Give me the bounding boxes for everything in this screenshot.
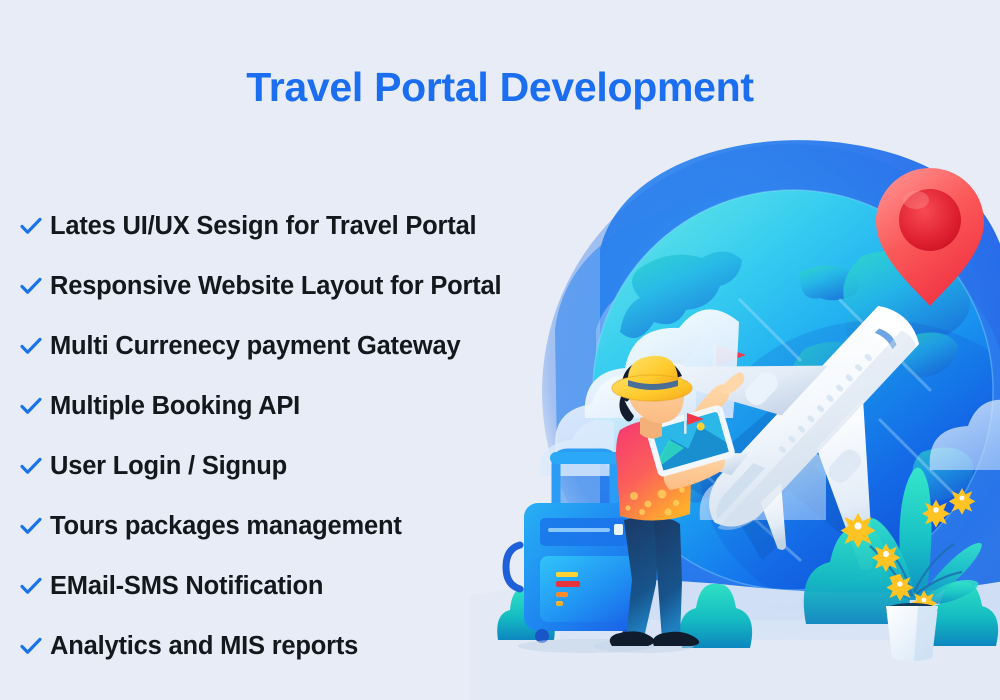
check-icon	[18, 515, 50, 537]
bush-icon-4	[922, 581, 998, 646]
continents	[620, 250, 973, 503]
list-item: Lates UI/UX Sesign for Travel Portal	[18, 196, 578, 256]
banner-root: Travel Portal Development Lates UI/UX Se…	[0, 0, 1000, 700]
airplane-icon	[607, 219, 1000, 623]
flag-icon	[713, 344, 746, 386]
list-item: Multi Currenecy payment Gateway	[18, 316, 578, 376]
bush-icon-3	[804, 528, 910, 624]
list-item-label: Multiple Booking API	[50, 392, 300, 421]
list-item: User Login / Signup	[18, 436, 578, 496]
bush-icon-2	[680, 584, 752, 648]
list-item: Responsive Website Layout for Portal	[18, 256, 578, 316]
potted-plant-icon	[841, 467, 982, 661]
check-icon	[18, 635, 50, 657]
flower-group	[841, 488, 976, 616]
list-item: Tours packages management	[18, 496, 578, 556]
map-pin-icon	[876, 168, 984, 306]
list-item: EMail-SMS Notification	[18, 556, 578, 616]
page-title: Travel Portal Development	[0, 64, 1000, 111]
check-icon	[18, 395, 50, 417]
list-item-label: EMail-SMS Notification	[50, 572, 323, 601]
airplane-shadow	[690, 398, 890, 560]
list-item: Analytics and MIS reports	[18, 616, 578, 676]
motion-streaks	[700, 300, 960, 560]
check-icon	[18, 575, 50, 597]
list-item-label: Tours packages management	[50, 512, 402, 541]
list-item-label: Analytics and MIS reports	[50, 632, 358, 661]
straw-hat-icon	[612, 356, 692, 401]
check-icon	[18, 275, 50, 297]
globe-halo	[542, 144, 1000, 640]
check-icon	[18, 215, 50, 237]
traveler-person-icon	[594, 356, 744, 653]
tablet-flag-icon	[684, 412, 704, 434]
background-swoosh	[555, 140, 1000, 640]
globe-icon	[593, 190, 1000, 620]
feature-list: Lates UI/UX Sesign for Travel Portal Res…	[18, 196, 578, 676]
check-icon	[18, 335, 50, 357]
cloud-back-group	[596, 241, 844, 366]
list-item-label: User Login / Signup	[50, 452, 287, 481]
cloud-right-icon	[700, 400, 1000, 520]
tablet-icon	[644, 404, 736, 478]
list-item: Multiple Booking API	[18, 376, 578, 436]
check-icon	[18, 455, 50, 477]
list-item-label: Responsive Website Layout for Portal	[50, 272, 501, 301]
list-item-label: Lates UI/UX Sesign for Travel Portal	[50, 212, 476, 241]
list-item-label: Multi Currenecy payment Gateway	[50, 332, 460, 361]
